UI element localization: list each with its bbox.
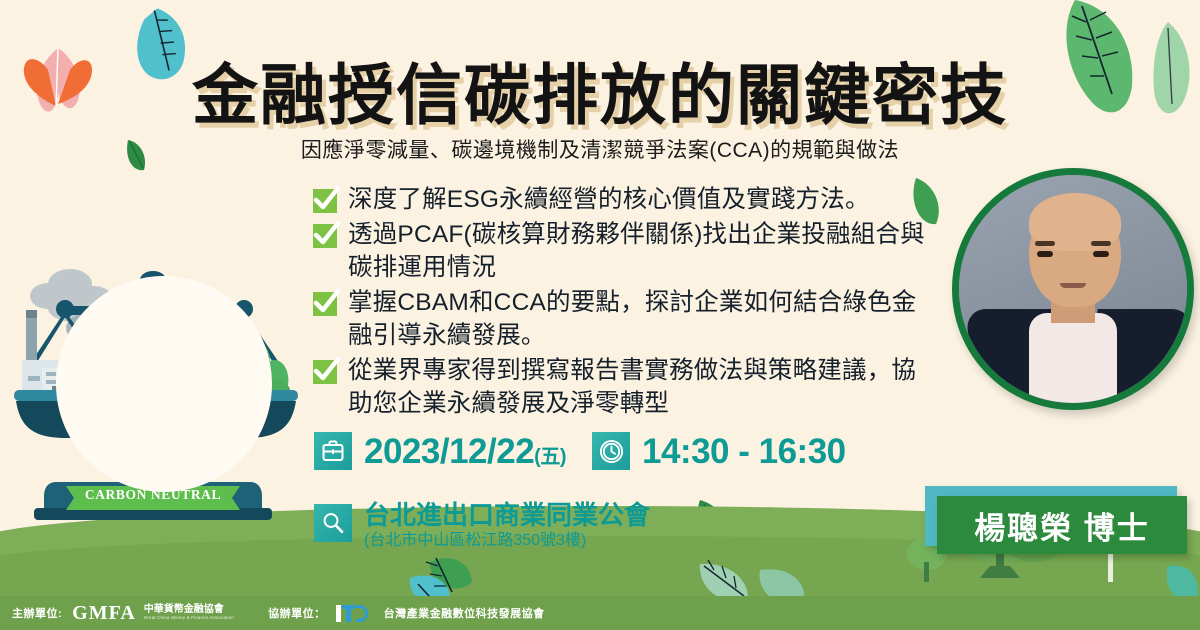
tfd-logo-icon bbox=[336, 605, 368, 622]
list-item-label: 深度了解ESG永續經營的核心價值及實踐方法。 bbox=[348, 183, 870, 216]
organizer-name-block: 中華貨幣金融協會 Great China Money & Finance Ass… bbox=[144, 605, 234, 620]
page-title: 金融授信碳排放的關鍵密技 bbox=[0, 42, 1200, 138]
organizer-name-en: Great China Money & Finance Association bbox=[144, 616, 234, 621]
list-item: 透過PCAF(碳核算財務夥伴關係)找出企業投融組合與碳排運用情況 bbox=[313, 218, 933, 284]
event-date: 2023/12/22(五) bbox=[364, 434, 566, 469]
page-subtitle: 因應淨零減量、碳邊境機制及清潔競爭法案(CCA)的規範與做法 bbox=[0, 134, 1200, 164]
calendar-briefcase-icon bbox=[314, 432, 352, 470]
check-square-icon bbox=[313, 292, 337, 316]
check-square-icon bbox=[313, 360, 337, 384]
list-item: 掌握CBAM和CCA的要點，探討企業如何結合綠色金融引導永續發展。 bbox=[313, 286, 933, 352]
speaker-name: 楊聰榮 博士 bbox=[974, 503, 1150, 548]
check-square-icon bbox=[313, 189, 337, 213]
carbon-neutral-scale-illustration: CARBON NEUTRAL bbox=[8, 268, 298, 530]
magnifier-icon bbox=[314, 504, 352, 542]
clock-icon bbox=[592, 432, 630, 470]
list-item-label: 掌握CBAM和CCA的要點，探討企業如何結合綠色金融引導永續發展。 bbox=[348, 286, 933, 352]
gmfa-logo: GMFA bbox=[72, 603, 136, 623]
event-datetime-row: 2023/12/22(五) 14:30 - 16:30 bbox=[314, 432, 846, 470]
speaker-portrait bbox=[952, 168, 1194, 410]
benefits-list: 深度了解ESG永續經營的核心價值及實踐方法。 透過PCAF(碳核算財務夥伴關係)… bbox=[313, 183, 933, 422]
coorganizer-name: 台灣產業金融數位科技發展協會 bbox=[384, 605, 545, 621]
coorganizer-label: 協辦單位： bbox=[268, 605, 326, 621]
scale-backdrop-circle bbox=[56, 276, 272, 492]
venue-name: 台北進出口商業同業公會 bbox=[364, 502, 650, 529]
list-item-label: 透過PCAF(碳核算財務夥伴關係)找出企業投融組合與碳排運用情況 bbox=[348, 218, 933, 284]
carbon-neutral-banner-label: CARBON NEUTRAL bbox=[66, 487, 240, 503]
poster-canvas: CARBON NEUTRAL 金融授信碳排放的關鍵密技 因應淨零減量、碳邊境機制… bbox=[0, 0, 1200, 630]
venue-address: (台北市中山區松江路350號3樓) bbox=[364, 532, 650, 550]
badge-green-panel: 楊聰榮 博士 bbox=[937, 496, 1187, 554]
footer-organizers-bar: 主辦單位: GMFA 中華貨幣金融協會 Great China Money & … bbox=[0, 596, 1200, 630]
list-item: 深度了解ESG永續經營的核心價值及實踐方法。 bbox=[313, 183, 933, 216]
event-time: 14:30 - 16:30 bbox=[642, 434, 846, 469]
organizer-label: 主辦單位: bbox=[12, 605, 62, 621]
list-item: 從業界專家得到撰寫報告書實務做法與策略建議，協助您企業永續發展及淨零轉型 bbox=[313, 354, 933, 420]
check-square-icon bbox=[313, 224, 337, 248]
list-item-label: 從業界專家得到撰寫報告書實務做法與策略建議，協助您企業永續發展及淨零轉型 bbox=[348, 354, 933, 420]
event-venue-row: 台北進出口商業同業公會 (台北市中山區松江路350號3樓) bbox=[314, 502, 650, 551]
